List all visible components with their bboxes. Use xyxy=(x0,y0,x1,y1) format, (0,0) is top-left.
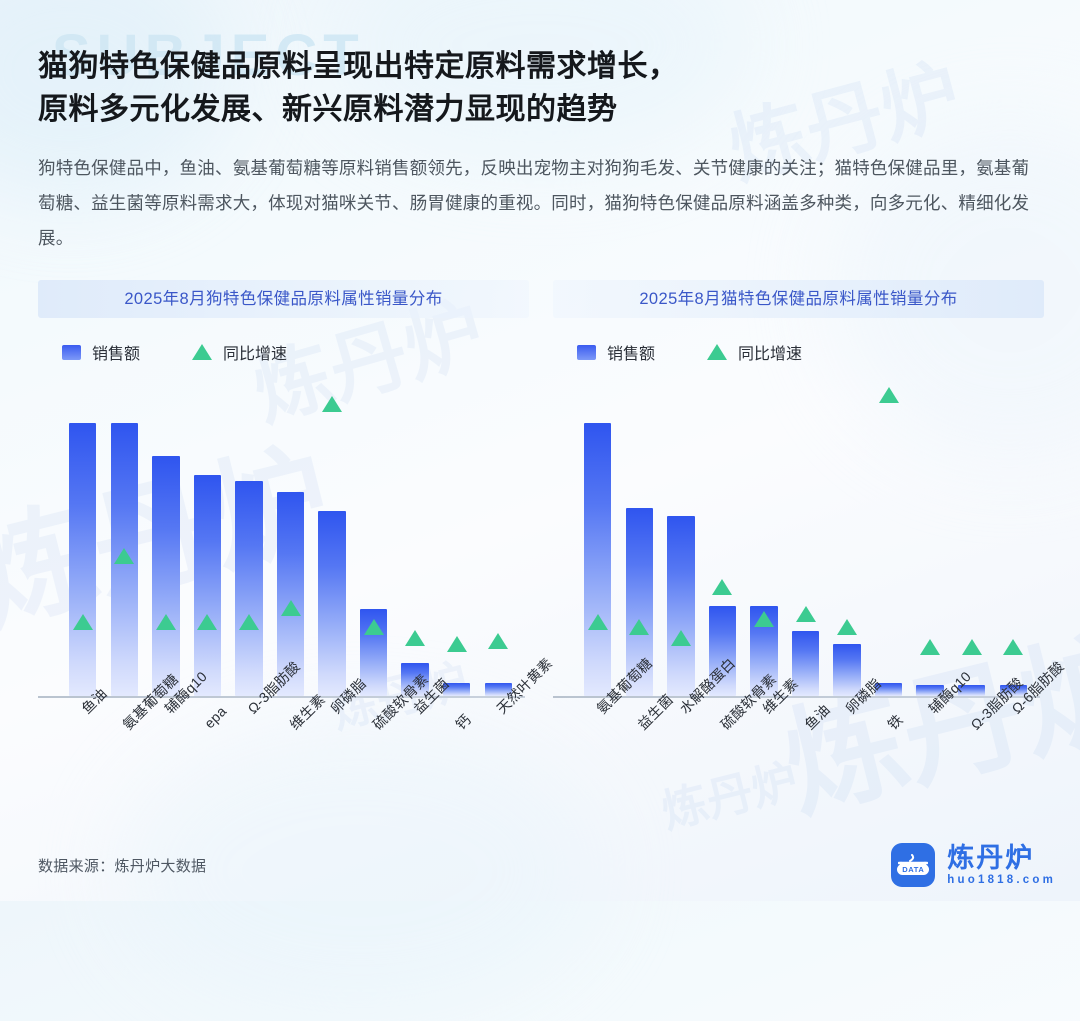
legend-item-growth[interactable]: 同比增速 xyxy=(192,340,287,364)
marker-cat-7 xyxy=(879,387,899,403)
brand-text: 炼丹炉 huo1818.com xyxy=(947,845,1056,886)
marker-dog-3 xyxy=(197,614,217,630)
chart-panel-cat: 2025年8月猫特色保健品原料属性销量分布 销售额 同比增速 氨基葡萄糖益生菌水… xyxy=(553,280,1044,810)
legend-triangle-icon xyxy=(192,344,212,360)
marker-cat-0 xyxy=(588,614,608,630)
x-label-dog-9: 钙 xyxy=(451,710,475,734)
plot-area-dog xyxy=(38,376,529,698)
brand-mark-icon: DATA xyxy=(891,843,935,887)
x-label-cat-7: 铁 xyxy=(883,710,907,734)
brand-name: 炼丹炉 xyxy=(947,845,1056,872)
chart-title-dog: 2025年8月狗特色保健品原料属性销量分布 xyxy=(38,280,529,318)
chart-title-cat: 2025年8月猫特色保健品原料属性销量分布 xyxy=(553,280,1044,318)
x-label-dog-3: epa xyxy=(201,703,229,731)
marker-cat-6 xyxy=(837,619,857,635)
bar-dog-3 xyxy=(194,475,221,696)
marker-dog-8 xyxy=(405,630,425,646)
legend-label-sales: 销售额 xyxy=(92,340,140,364)
x-axis-labels-dog: 鱼油氨基葡萄糖辅酶q10epaΩ-3脂肪酸维生素卵磷脂硫酸软骨素益生菌钙天然叶黄… xyxy=(38,698,529,810)
legend-triangle-icon xyxy=(707,344,727,360)
page-subtitle: 狗特色保健品中，鱼油、氨基葡萄糖等原料销售额领先，反映出宠物主对狗狗毛发、关节健… xyxy=(38,151,1040,256)
marker-dog-0 xyxy=(73,614,93,630)
marker-cat-3 xyxy=(712,579,732,595)
marker-dog-5 xyxy=(281,600,301,616)
plot-area-cat xyxy=(553,376,1044,698)
bar-dog-0 xyxy=(69,423,96,696)
marker-dog-6 xyxy=(322,396,342,412)
x-label-cat-5: 鱼油 xyxy=(800,700,834,734)
bar-cat-0 xyxy=(584,423,611,696)
marker-cat-8 xyxy=(920,639,940,655)
marker-dog-4 xyxy=(239,614,259,630)
page-title: 猫狗特色保健品原料呈现出特定原料需求增长， 原料多元化发展、新兴原料潜力显现的趋… xyxy=(38,46,1040,131)
marker-cat-9 xyxy=(962,639,982,655)
legend-item-growth[interactable]: 同比增速 xyxy=(707,340,802,364)
marker-cat-1 xyxy=(629,619,649,635)
legend-label-sales: 销售额 xyxy=(607,340,655,364)
marker-cat-10 xyxy=(1003,639,1023,655)
chart-panel-dog: 2025年8月狗特色保健品原料属性销量分布 销售额 同比增速 鱼油氨基葡萄糖辅酶… xyxy=(38,280,529,810)
marker-dog-10 xyxy=(488,633,508,649)
marker-cat-5 xyxy=(796,606,816,622)
charts-container: 2025年8月狗特色保健品原料属性销量分布 销售额 同比增速 鱼油氨基葡萄糖辅酶… xyxy=(0,256,1080,810)
brand-url: huo1818.com xyxy=(947,874,1056,886)
brand-data-badge: DATA xyxy=(897,864,929,875)
page-title-line-2: 原料多元化发展、新兴原料潜力显现的趋势 xyxy=(38,89,1040,132)
marker-cat-4 xyxy=(754,611,774,627)
marker-dog-2 xyxy=(156,614,176,630)
legend-label-growth: 同比增速 xyxy=(223,340,287,364)
x-axis-labels-cat: 氨基葡萄糖益生菌水解酪蛋白硫酸软骨素维生素鱼油卵磷脂铁辅酶q10Ω-3脂肪酸Ω-… xyxy=(553,698,1044,810)
brand-logo[interactable]: DATA 炼丹炉 huo1818.com xyxy=(891,843,1056,887)
chart-legend-cat: 销售额 同比增速 xyxy=(553,318,1044,364)
legend-bar-swatch-icon xyxy=(62,345,81,360)
bar-dog-4 xyxy=(235,481,262,697)
marker-dog-1 xyxy=(114,548,134,564)
marker-dog-7 xyxy=(364,619,384,635)
marker-cat-2 xyxy=(671,630,691,646)
marker-dog-9 xyxy=(447,636,467,652)
legend-item-sales[interactable]: 销售额 xyxy=(577,340,655,364)
chart-legend-dog: 销售额 同比增速 xyxy=(38,318,529,364)
page-title-line-1: 猫狗特色保健品原料呈现出特定原料需求增长， xyxy=(38,46,1040,89)
bar-cat-2 xyxy=(667,516,694,696)
page-footer: 数据来源：炼丹炉大数据 DATA 炼丹炉 huo1818.com xyxy=(0,829,1080,901)
page-header: 猫狗特色保健品原料呈现出特定原料需求增长， 原料多元化发展、新兴原料潜力显现的趋… xyxy=(0,0,1080,256)
data-source-label: 数据来源：炼丹炉大数据 xyxy=(38,855,206,876)
legend-bar-swatch-icon xyxy=(577,345,596,360)
legend-item-sales[interactable]: 销售额 xyxy=(62,340,140,364)
bar-dog-2 xyxy=(152,456,179,696)
legend-label-growth: 同比增速 xyxy=(738,340,802,364)
bar-dog-6 xyxy=(318,511,345,697)
